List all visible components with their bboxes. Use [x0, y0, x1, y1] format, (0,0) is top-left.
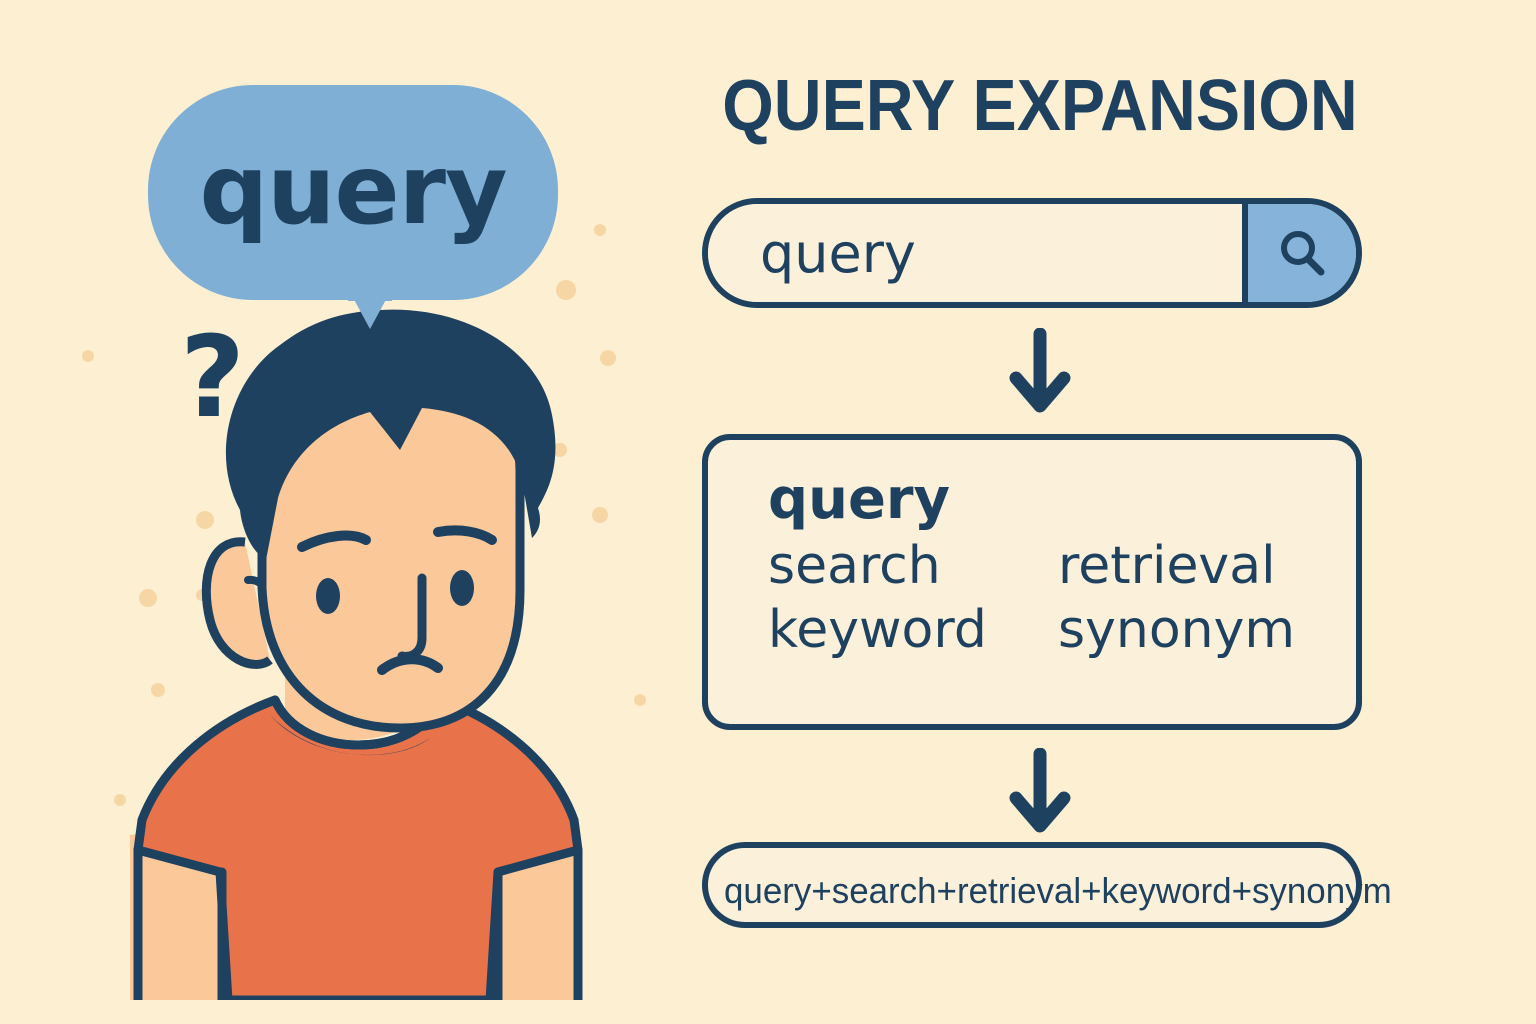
expansion-term-search: search: [768, 536, 1058, 597]
search-input[interactable]: query: [708, 204, 1242, 302]
person-head: [206, 310, 555, 755]
arrow-down-icon: [1008, 328, 1072, 420]
flow-arrow-top: [680, 328, 1400, 420]
expanded-query-pill: query+search+retrieval+keyword+synonym: [702, 842, 1362, 928]
search-button[interactable]: [1242, 204, 1356, 302]
speech-bubble: query: [148, 85, 558, 300]
arrow-down-icon: [1008, 748, 1072, 840]
expansion-term-retrieval: retrieval: [1058, 536, 1356, 597]
decorative-dot: [634, 694, 646, 706]
search-icon: [1274, 225, 1330, 281]
speech-bubble-tail: [344, 281, 396, 329]
illustration-canvas: query ? QUERY EXPANSION query que: [0, 0, 1536, 1024]
question-mark-icon: ?: [180, 322, 245, 434]
query-expansion-flow: QUERY EXPANSION query query search r: [680, 0, 1400, 1024]
expansion-term-keyword: keyword: [768, 600, 1058, 661]
expansion-primary-term: query: [768, 470, 1356, 530]
flow-arrow-bottom: [680, 748, 1400, 840]
expanded-query-text: query+search+retrieval+keyword+synonym: [724, 848, 1403, 934]
expansion-terms-grid: search retrieval keyword synonym: [768, 536, 1356, 661]
speech-bubble-text: query: [148, 85, 558, 300]
expansion-term-synonym: synonym: [1058, 600, 1356, 661]
search-bar[interactable]: query: [702, 198, 1362, 308]
expansion-terms-box: query search retrieval keyword synonym: [702, 434, 1362, 730]
page-title: QUERY EXPANSION: [709, 70, 1371, 142]
